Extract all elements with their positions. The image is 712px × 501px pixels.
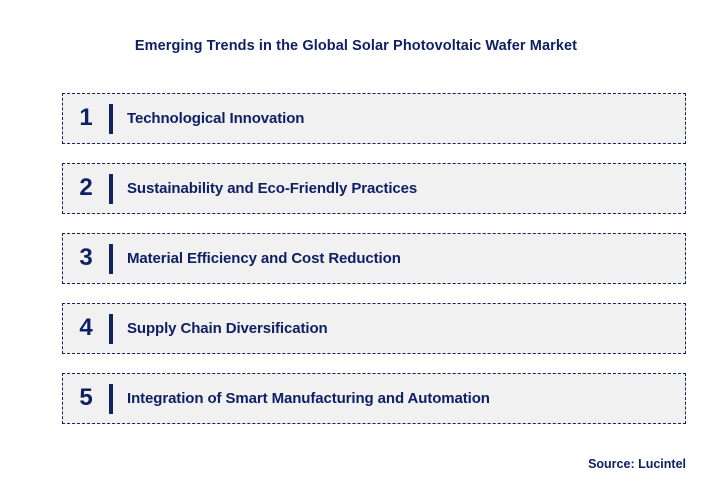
trend-label: Sustainability and Eco-Friendly Practice… [113,180,685,197]
source-attribution: Source: Lucintel [588,457,686,471]
page-title: Emerging Trends in the Global Solar Phot… [0,38,712,54]
trend-label: Material Efficiency and Cost Reduction [113,250,685,267]
trend-number: 4 [63,316,109,342]
trend-label: Integration of Smart Manufacturing and A… [113,390,685,407]
trend-item-1[interactable]: 1 Technological Innovation [62,93,686,144]
trend-item-3[interactable]: 3 Material Efficiency and Cost Reduction [62,233,686,284]
trend-number: 1 [63,106,109,132]
trend-number: 2 [63,176,109,202]
trend-item-5[interactable]: 5 Integration of Smart Manufacturing and… [62,373,686,424]
trend-number: 5 [63,386,109,412]
trend-label: Technological Innovation [113,110,685,127]
trend-item-4[interactable]: 4 Supply Chain Diversification [62,303,686,354]
trend-number: 3 [63,246,109,272]
trend-label: Supply Chain Diversification [113,320,685,337]
trend-list: 1 Technological Innovation 2 Sustainabil… [62,93,686,424]
trend-item-2[interactable]: 2 Sustainability and Eco-Friendly Practi… [62,163,686,214]
infographic-canvas: Emerging Trends in the Global Solar Phot… [0,0,712,501]
